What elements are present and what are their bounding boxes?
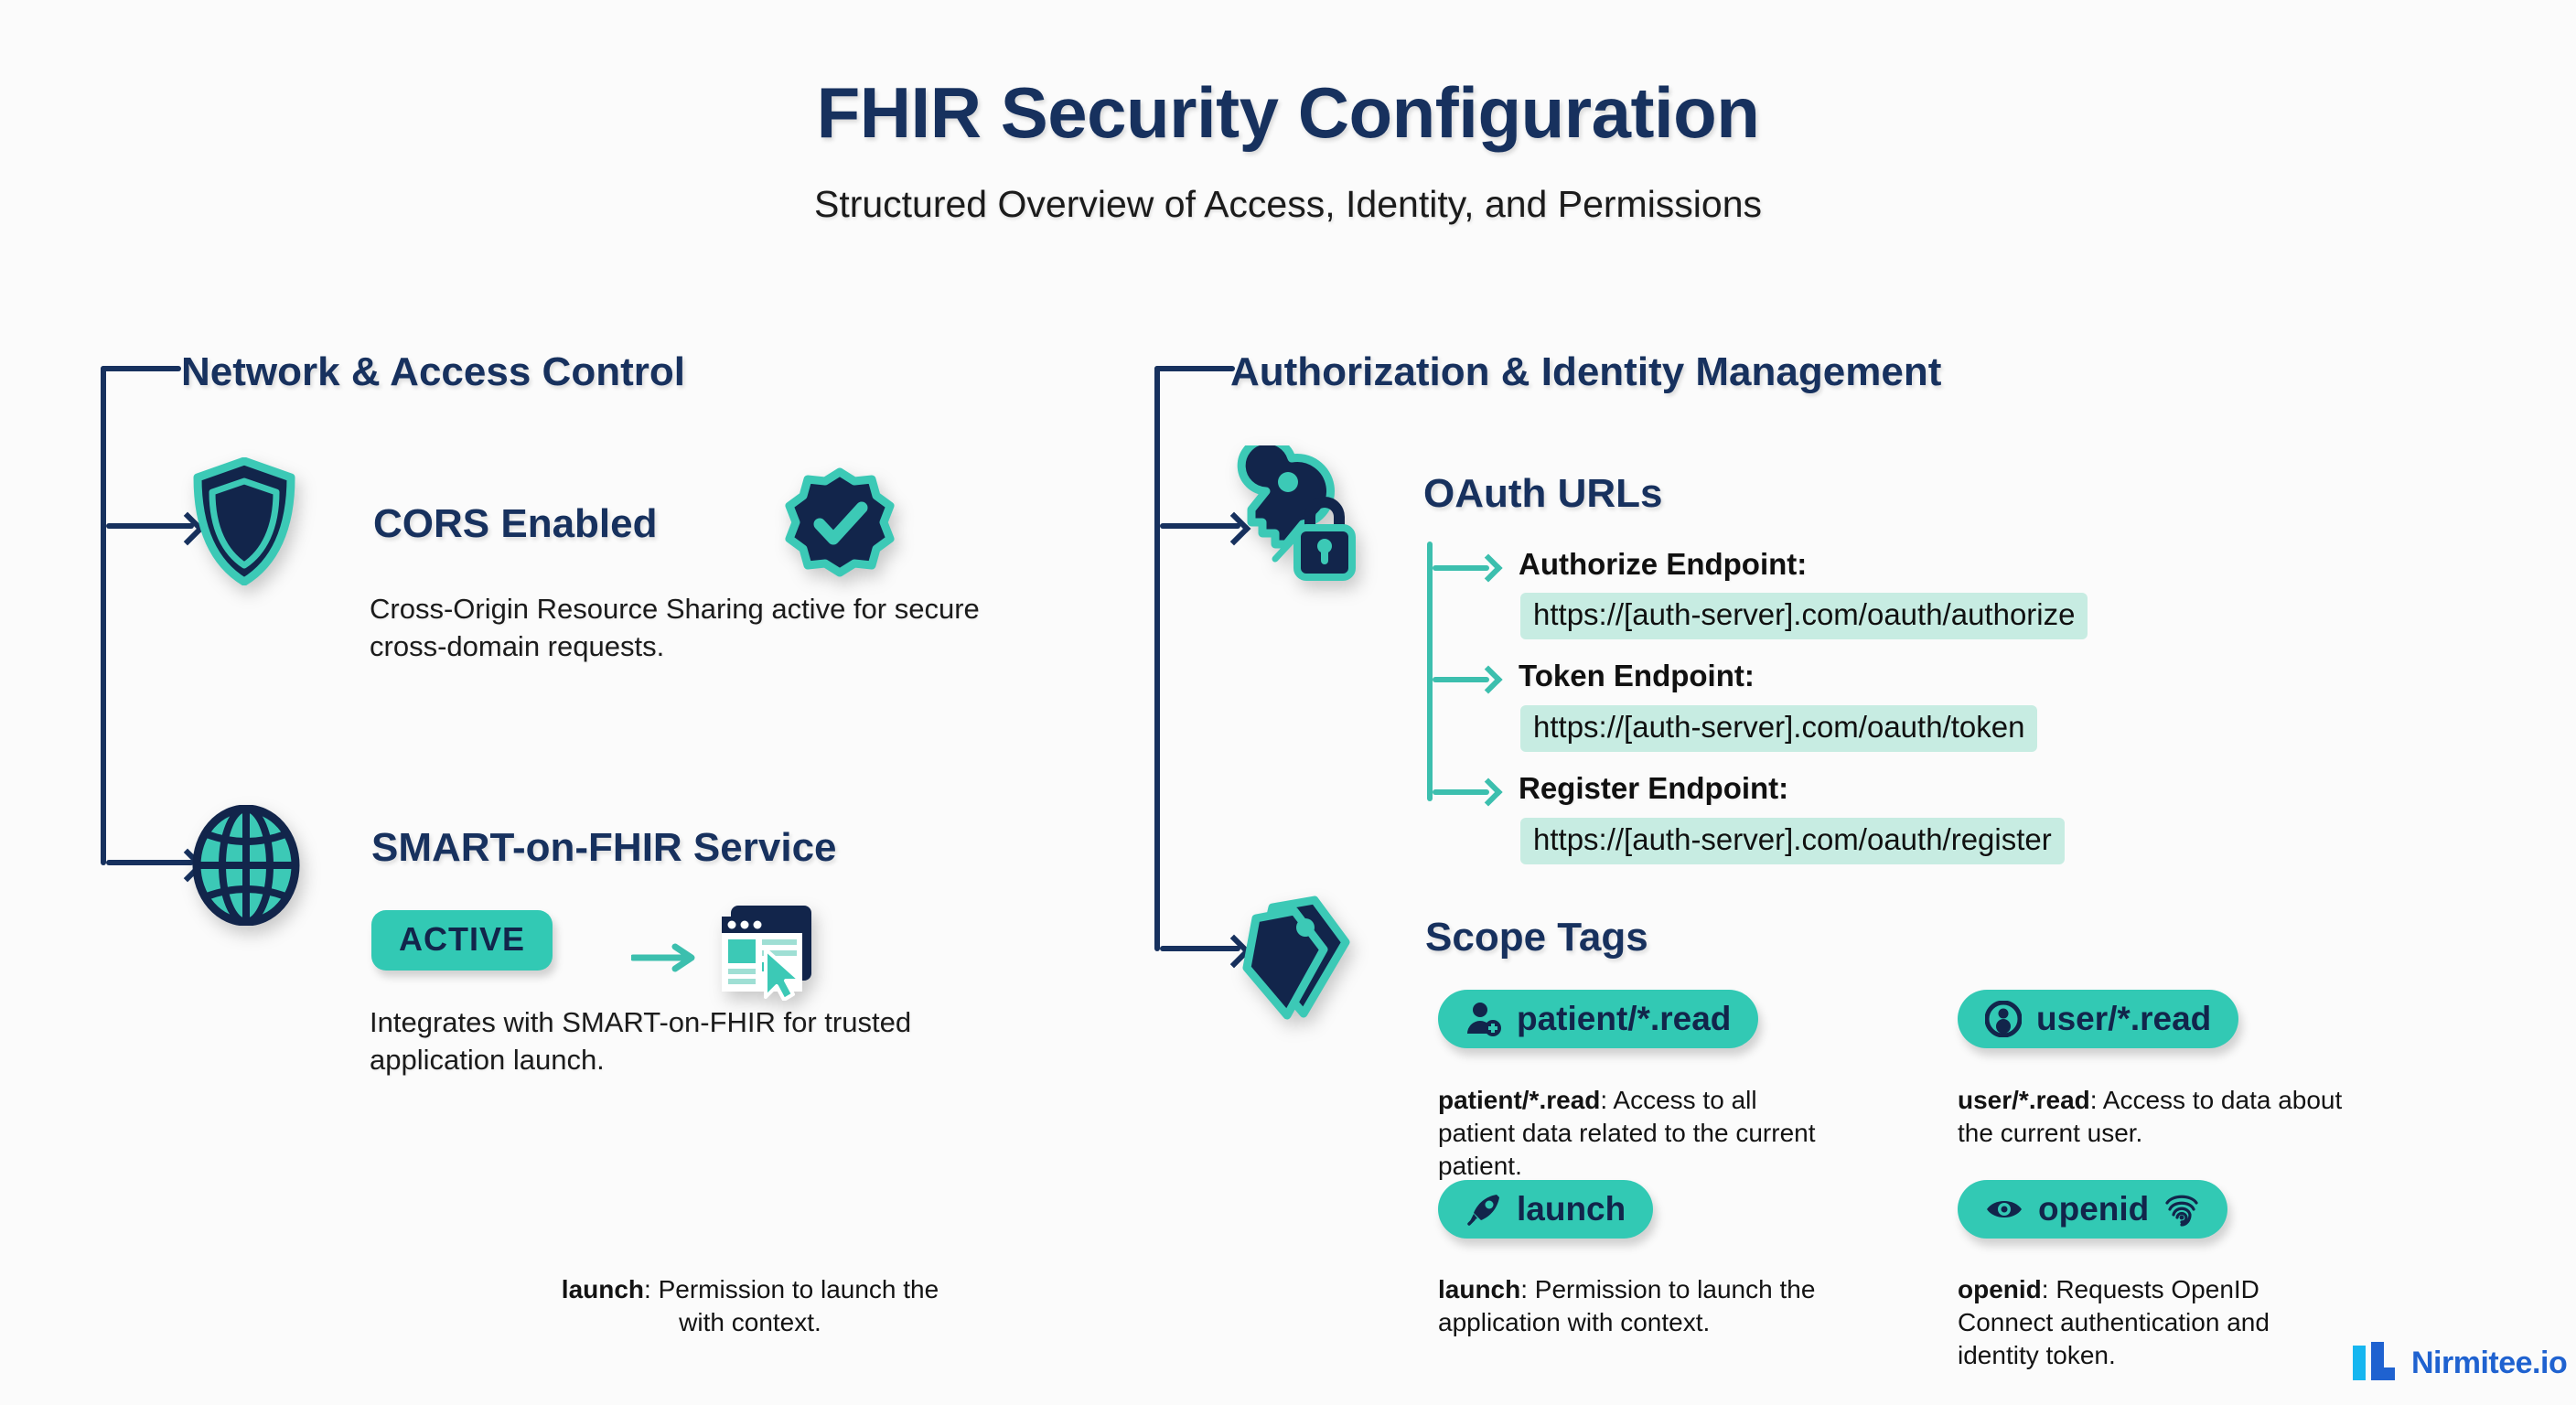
shield-icon <box>190 457 298 590</box>
scope-chip-user-read[interactable]: user/*.read <box>1958 990 2238 1048</box>
artifact-line-2: with context. <box>512 1306 988 1339</box>
artifact-launch-text: launch: Permission to launch the with co… <box>512 1273 988 1339</box>
app-window-cursor-icon <box>716 902 819 1005</box>
fingerprint-icon <box>2163 1190 2200 1228</box>
arrow-right-icon <box>631 942 701 978</box>
item-title-oauth-urls: OAuth URLs <box>1423 471 1663 517</box>
globe-icon <box>192 805 300 930</box>
tag-icon <box>1240 895 1360 1025</box>
branch-top-horizontal <box>101 366 181 371</box>
nirmitee-logo-icon <box>2351 1340 2399 1387</box>
endpoint-label-token: Token Endpoint: <box>1519 659 1755 693</box>
user-circle-icon <box>1985 1001 2022 1037</box>
scope-description-openid: openid: Requests OpenID Connect authenti… <box>1958 1273 2351 1372</box>
arrow-head-icon <box>1474 553 1502 582</box>
page-title: FHIR Security Configuration <box>0 71 2576 155</box>
item-description-cors: Cross-Origin Resource Sharing active for… <box>370 590 1010 665</box>
branch-vertical-spine <box>1154 366 1160 951</box>
scope-description-user-read: user/*.read: Access to data about the cu… <box>1958 1084 2351 1150</box>
arrow-head-icon <box>1474 665 1502 693</box>
item-title-smart-on-fhir: SMART-on-FHIR Service <box>371 825 837 871</box>
endpoint-label-register: Register Endpoint: <box>1519 771 1788 806</box>
footer-logo: Nirmitee.io <box>2351 1340 2567 1387</box>
scope-chip-label: openid <box>2038 1190 2149 1228</box>
scope-desc-term: launch <box>1438 1275 1520 1303</box>
logo-text: Nirmitee.io <box>2411 1346 2567 1381</box>
item-title-cors: CORS Enabled <box>373 501 658 547</box>
page-subtitle: Structured Overview of Access, Identity,… <box>0 183 2576 226</box>
infographic-canvas: FHIR Security Configuration Structured O… <box>0 0 2576 1405</box>
status-badge-active: ACTIVE <box>371 910 553 971</box>
artifact-term: launch <box>562 1275 644 1303</box>
subbranch-vertical <box>1427 542 1433 801</box>
scope-description-launch: launch: Permission to launch the applica… <box>1438 1273 1831 1339</box>
artifact-line-1: : Permission to launch the <box>644 1275 939 1303</box>
arrow-head-icon <box>1474 778 1502 806</box>
scope-chip-label: patient/*.read <box>1517 1000 1731 1038</box>
branch-top-horizontal <box>1154 366 1235 371</box>
scope-description-patient-read: patient/*.read: Access to all patient da… <box>1438 1084 1831 1183</box>
scope-desc-term: user/*.read <box>1958 1086 2090 1114</box>
scope-desc-term: openid <box>1958 1275 2042 1303</box>
scope-chip-openid[interactable]: openid <box>1958 1180 2227 1239</box>
scope-chip-patient-read[interactable]: patient/*.read <box>1438 990 1758 1048</box>
endpoint-url-token[interactable]: https://[auth-server].com/oauth/token <box>1520 705 2037 752</box>
scope-chip-label: user/*.read <box>2036 1000 2211 1038</box>
item-description-smart-on-fhir: Integrates with SMART-on-FHIR for truste… <box>370 1003 973 1078</box>
rocket-icon <box>1465 1191 1502 1228</box>
patient-person-plus-icon <box>1465 1001 1502 1037</box>
item-title-scope-tags: Scope Tags <box>1425 915 1648 960</box>
scope-chip-label: launch <box>1517 1190 1626 1228</box>
scope-desc-term: patient/*.read <box>1438 1086 1600 1114</box>
key-lock-icon <box>1233 445 1363 589</box>
branch-vertical-spine <box>101 366 106 865</box>
endpoint-url-register[interactable]: https://[auth-server].com/oauth/register <box>1520 818 2065 864</box>
verified-check-badge-icon <box>782 467 897 586</box>
scope-chip-launch[interactable]: launch <box>1438 1180 1653 1239</box>
section-heading-network-access-control: Network & Access Control <box>181 349 685 395</box>
eye-icon <box>1985 1196 2023 1223</box>
endpoint-url-authorize[interactable]: https://[auth-server].com/oauth/authoriz… <box>1520 593 2088 639</box>
section-heading-authorization-identity: Authorization & Identity Management <box>1230 349 1941 395</box>
endpoint-label-authorize: Authorize Endpoint: <box>1519 547 1807 582</box>
